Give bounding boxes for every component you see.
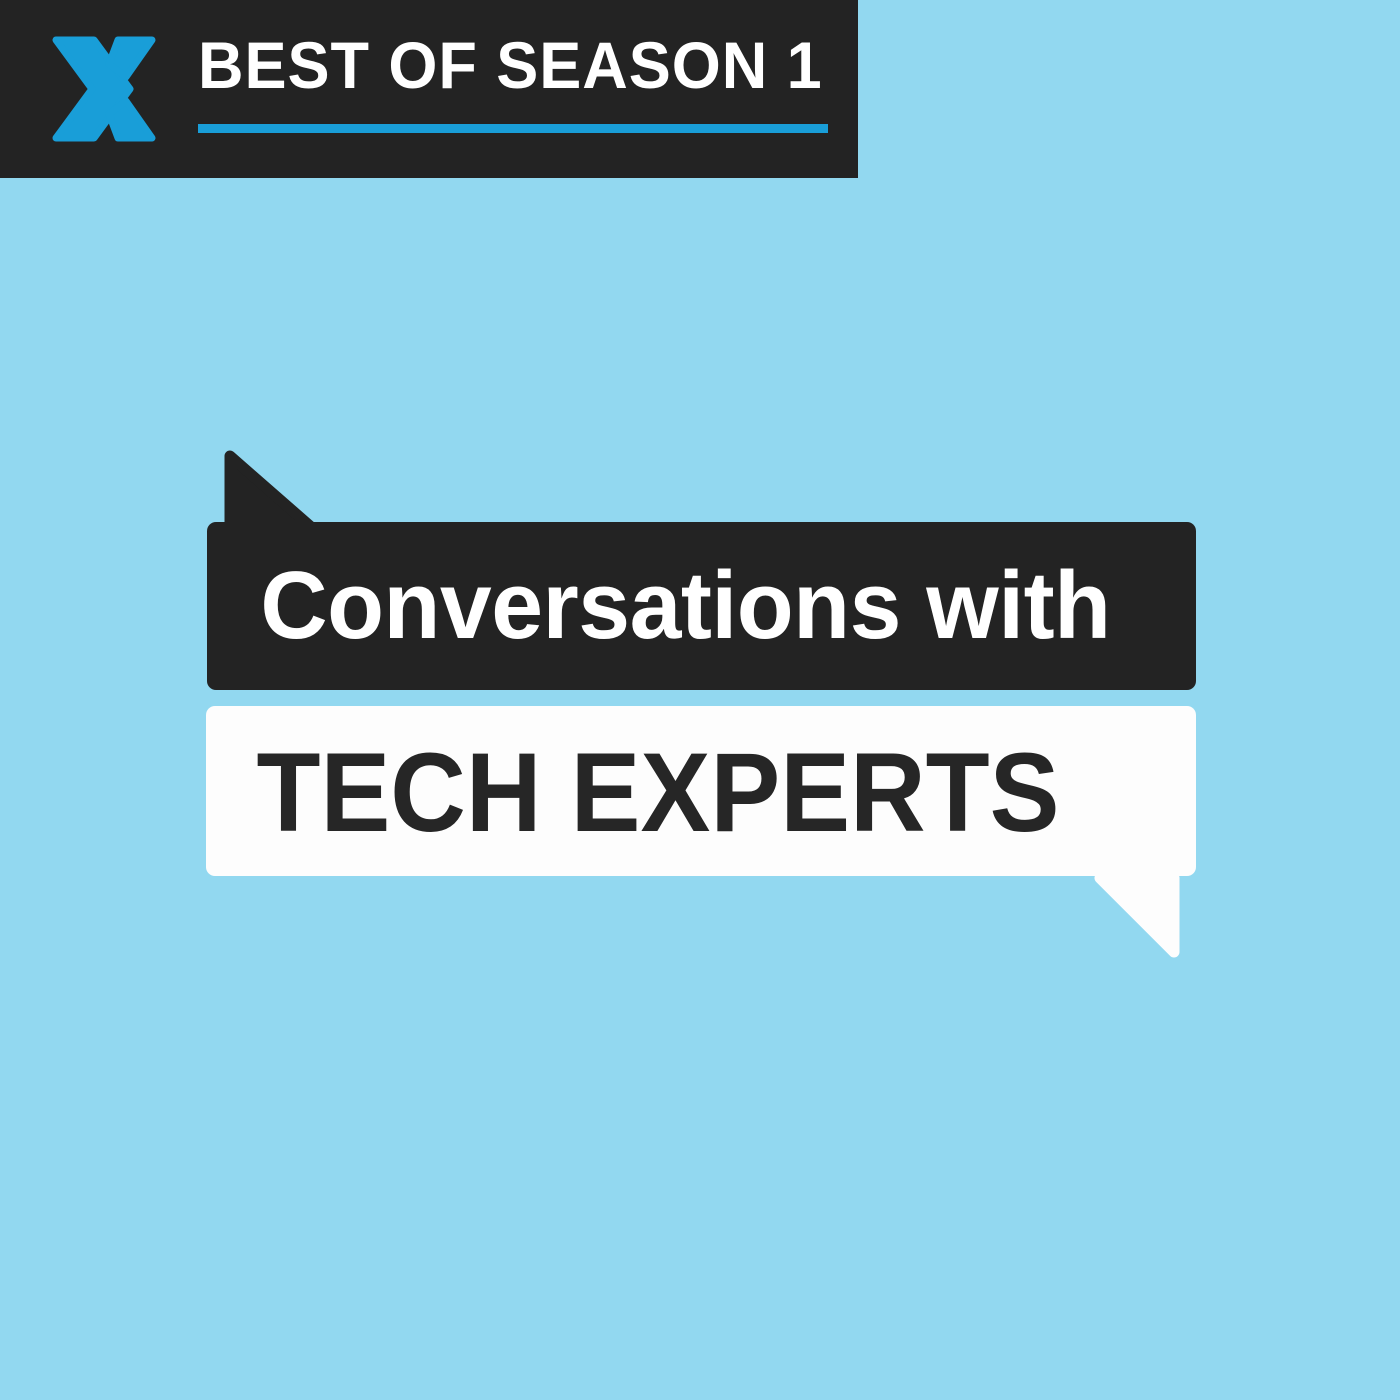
light-bubble-tail-icon [1094,872,1180,960]
bubble-text-conversations-with: Conversations with [207,522,1166,690]
podcast-cover-art: BEST OF SEASON 1 Conversations with TECH… [0,0,1400,1400]
bubble-text-tech-experts: TECH EXPERTS [206,706,1132,876]
speech-bubble-group: Conversations with TECH EXPERTS [0,0,1400,1400]
dark-bubble-tail-icon [224,446,314,528]
